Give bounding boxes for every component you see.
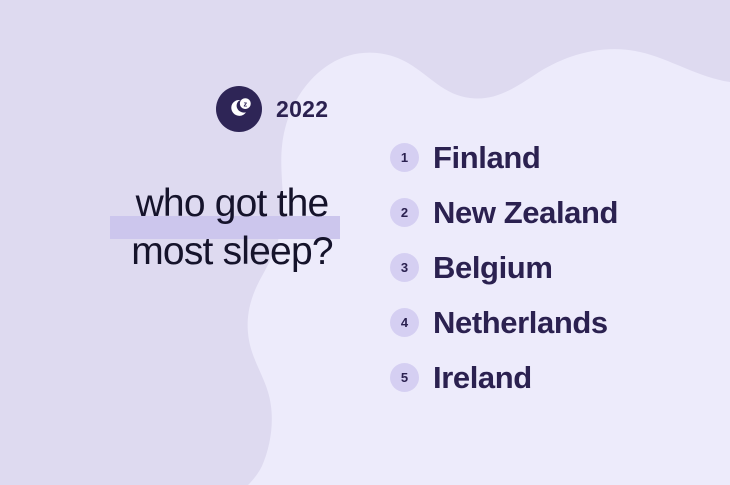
- country-name: Netherlands: [433, 307, 608, 338]
- page-title-text: who got the most sleep?: [131, 182, 332, 273]
- year-label: 2022: [276, 98, 328, 121]
- list-item: 5 Ireland: [390, 356, 618, 398]
- blob-background-shape: [0, 0, 730, 485]
- list-item: 4 Netherlands: [390, 301, 618, 343]
- list-item: 3 Belgium: [390, 246, 618, 288]
- brand-row: z 2022: [216, 86, 328, 132]
- country-name: Ireland: [433, 362, 532, 393]
- country-name: Belgium: [433, 252, 553, 283]
- ranking-list: 1 Finland 2 New Zealand 3 Belgium 4 Neth…: [390, 136, 618, 398]
- infographic-canvas: z 2022 who got the most sleep? 1 Finland…: [0, 0, 730, 485]
- list-item: 1 Finland: [390, 136, 618, 178]
- crescent-moon-z-icon: z: [225, 95, 253, 123]
- list-item: 2 New Zealand: [390, 191, 618, 233]
- rank-badge: 5: [390, 363, 419, 392]
- rank-badge: 2: [390, 198, 419, 227]
- rank-badge: 3: [390, 253, 419, 282]
- country-name: New Zealand: [433, 197, 618, 228]
- rank-badge: 4: [390, 308, 419, 337]
- page-title: who got the most sleep?: [112, 132, 352, 276]
- svg-text:z: z: [243, 99, 247, 108]
- rank-badge: 1: [390, 143, 419, 172]
- sleep-logo-badge: z: [216, 86, 262, 132]
- country-name: Finland: [433, 142, 540, 173]
